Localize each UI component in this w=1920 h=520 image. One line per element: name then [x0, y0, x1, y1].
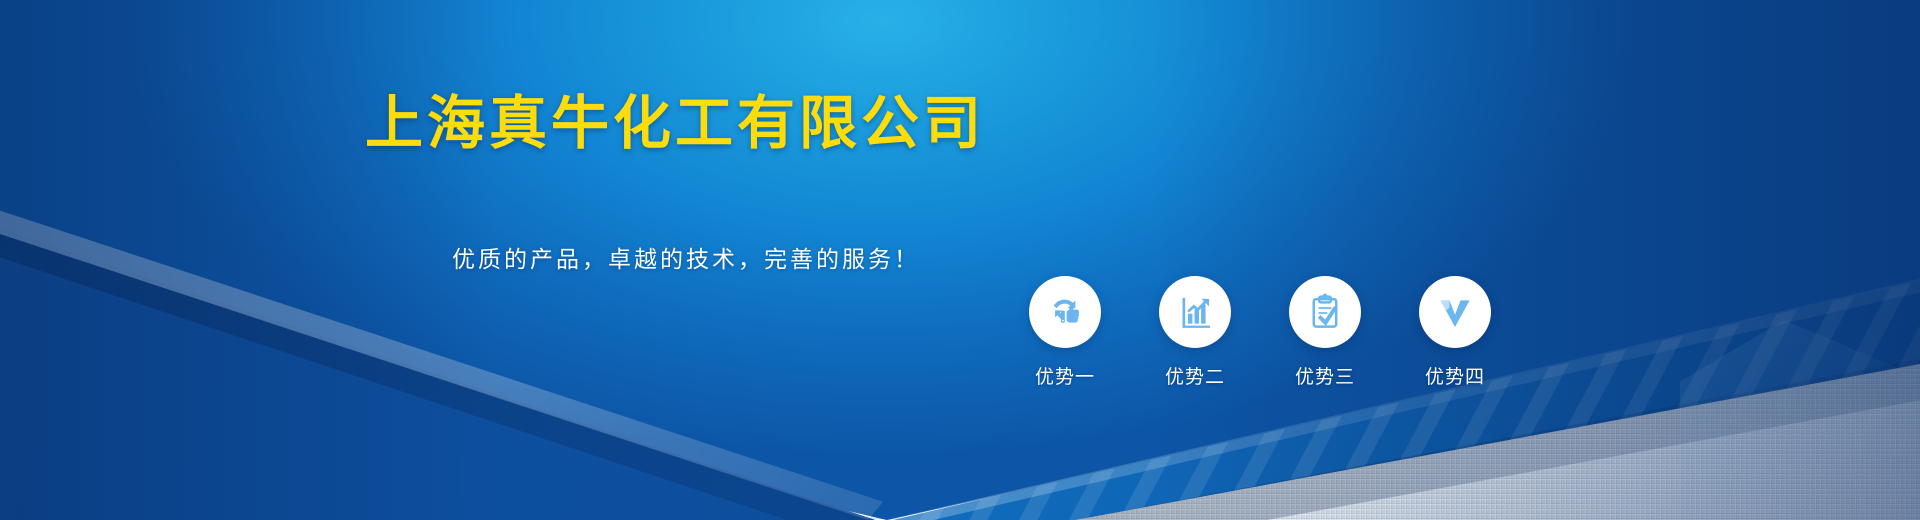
company-title: 上海真牛化工有限公司	[365, 88, 985, 161]
feature-icon-circle-1[interactable]	[1029, 276, 1101, 348]
banner-content: 上海真牛化工有限公司 优质的产品，卓越的技术，完善的服务！ 优势一	[0, 0, 1920, 520]
feature-label-2: 优势二	[1165, 362, 1225, 389]
feature-label-1: 优势一	[1035, 362, 1095, 389]
clipboard-check-icon	[1305, 292, 1345, 332]
feature-item-4[interactable]: 优势四	[1412, 276, 1498, 389]
v-chevron-icon	[1435, 292, 1475, 332]
feature-label-4: 优势四	[1425, 362, 1485, 389]
refresh-thumbs-up-icon	[1045, 292, 1085, 332]
feature-item-2[interactable]: 优势二	[1152, 276, 1238, 389]
company-hero-banner: 上海真牛化工有限公司 优质的产品，卓越的技术，完善的服务！ 优势一	[0, 0, 1920, 520]
feature-icon-circle-3[interactable]	[1289, 276, 1361, 348]
feature-icon-circle-4[interactable]	[1419, 276, 1491, 348]
feature-icon-circle-2[interactable]	[1159, 276, 1231, 348]
feature-item-3[interactable]: 优势三	[1282, 276, 1368, 389]
feature-list: 优势一 优势二	[1022, 276, 1498, 389]
bar-chart-growth-icon	[1175, 292, 1215, 332]
feature-label-3: 优势三	[1295, 362, 1355, 389]
feature-item-1[interactable]: 优势一	[1022, 276, 1108, 389]
company-slogan: 优质的产品，卓越的技术，完善的服务！	[452, 240, 920, 274]
